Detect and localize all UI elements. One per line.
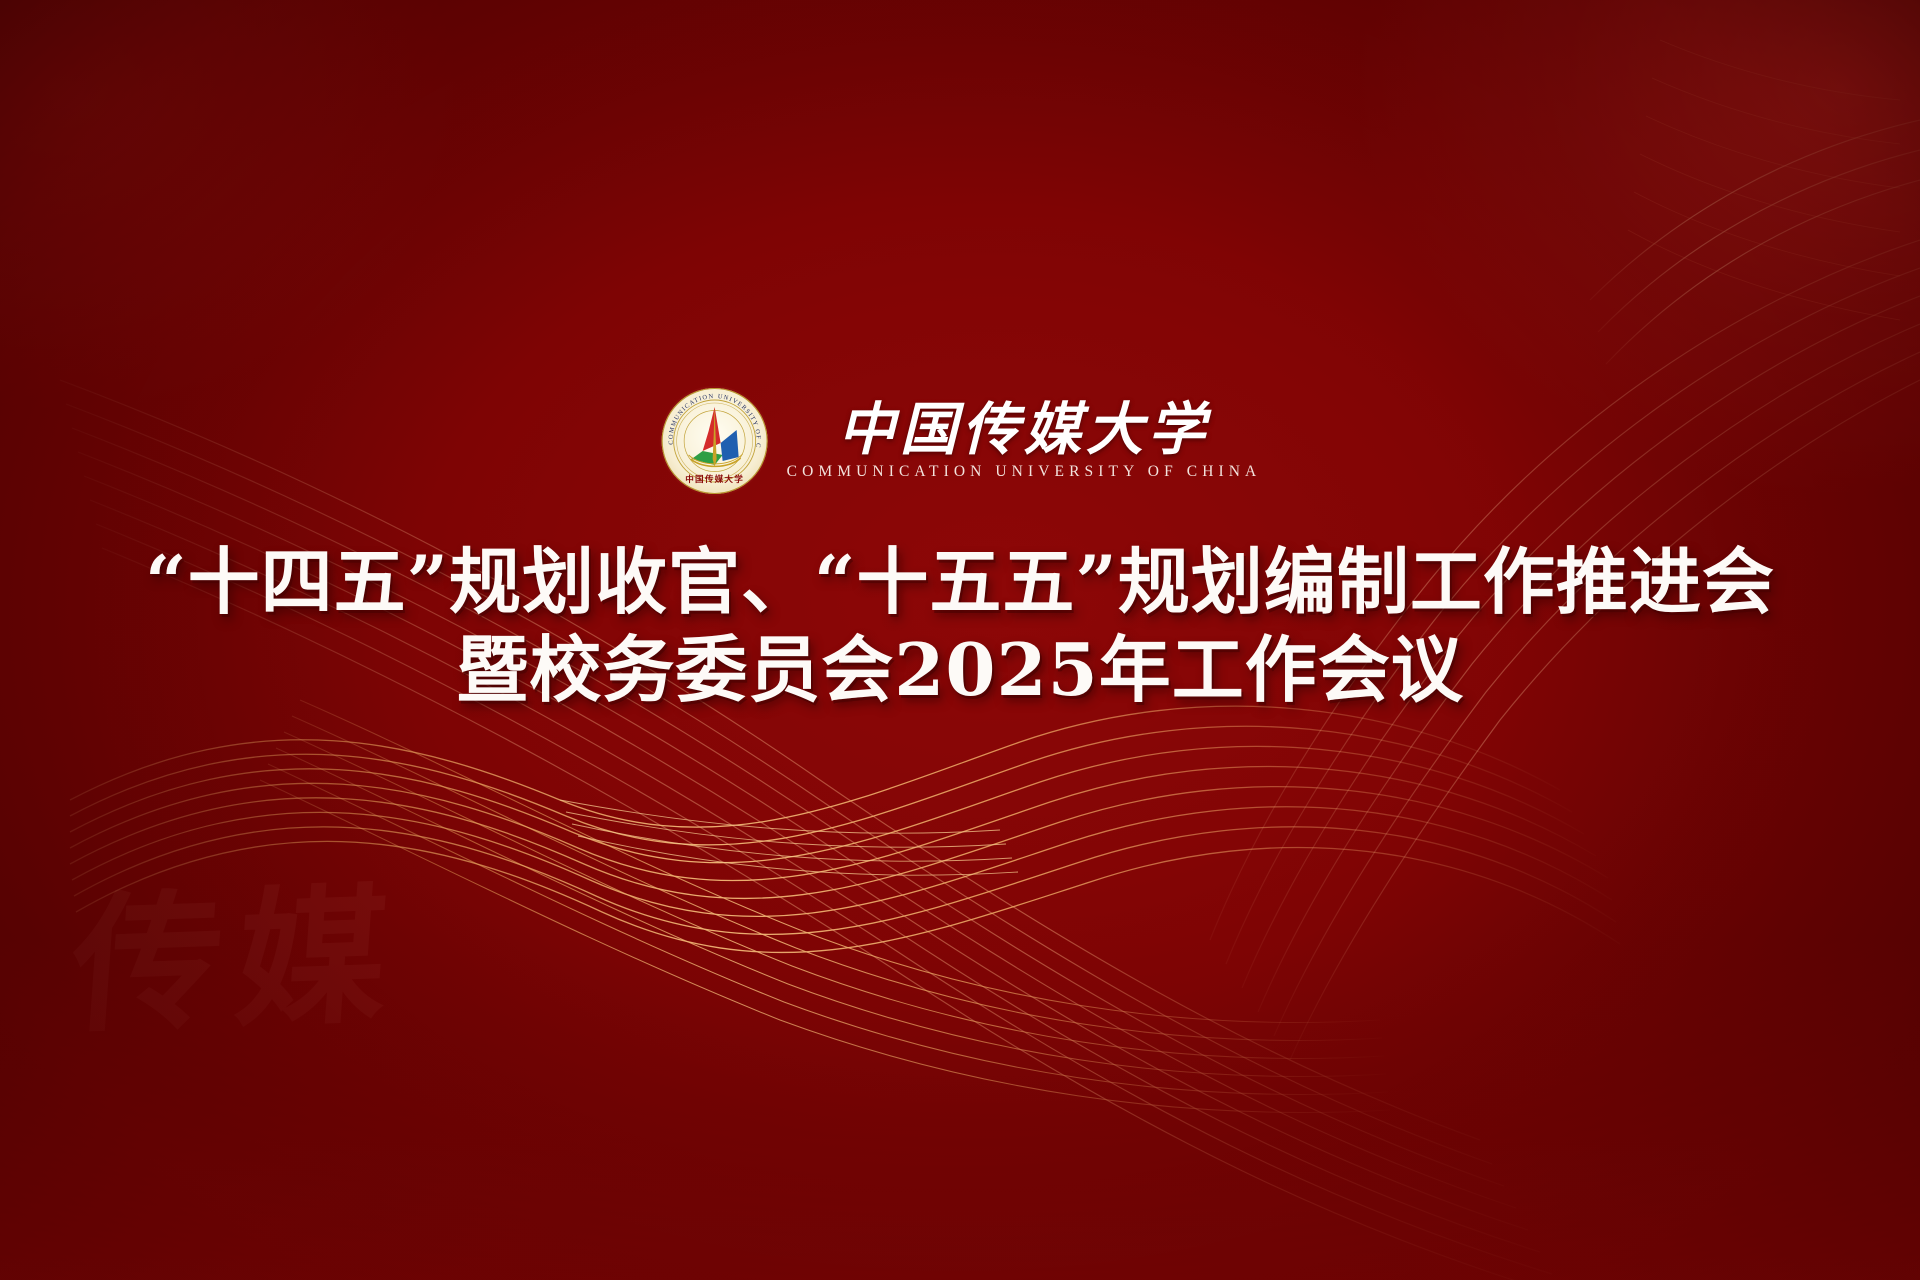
slide-canvas: 传媒: [0, 0, 1920, 1280]
title-line-1: “十四五”规划收官、“十五五”规划编制工作推进会: [0, 540, 1920, 624]
title-line-2: 暨校务委员会2025年工作会议: [0, 628, 1920, 712]
university-seal-icon: COMMUNICATION UNIVERSITY OF CHINA 中国传媒大学: [659, 385, 771, 497]
wordmark-english: COMMUNICATION UNIVERSITY OF CHINA: [787, 460, 1262, 481]
wordmark-chinese: 中国传媒大学: [838, 401, 1210, 458]
university-logo: COMMUNICATION UNIVERSITY OF CHINA 中国传媒大学: [659, 385, 1262, 497]
university-wordmark: 中国传媒大学 COMMUNICATION UNIVERSITY OF CHINA: [787, 401, 1262, 481]
svg-text:中国传媒大学: 中国传媒大学: [685, 473, 744, 485]
slide-title: “十四五”规划收官、“十五五”规划编制工作推进会 暨校务委员会2025年工作会议: [0, 540, 1920, 711]
